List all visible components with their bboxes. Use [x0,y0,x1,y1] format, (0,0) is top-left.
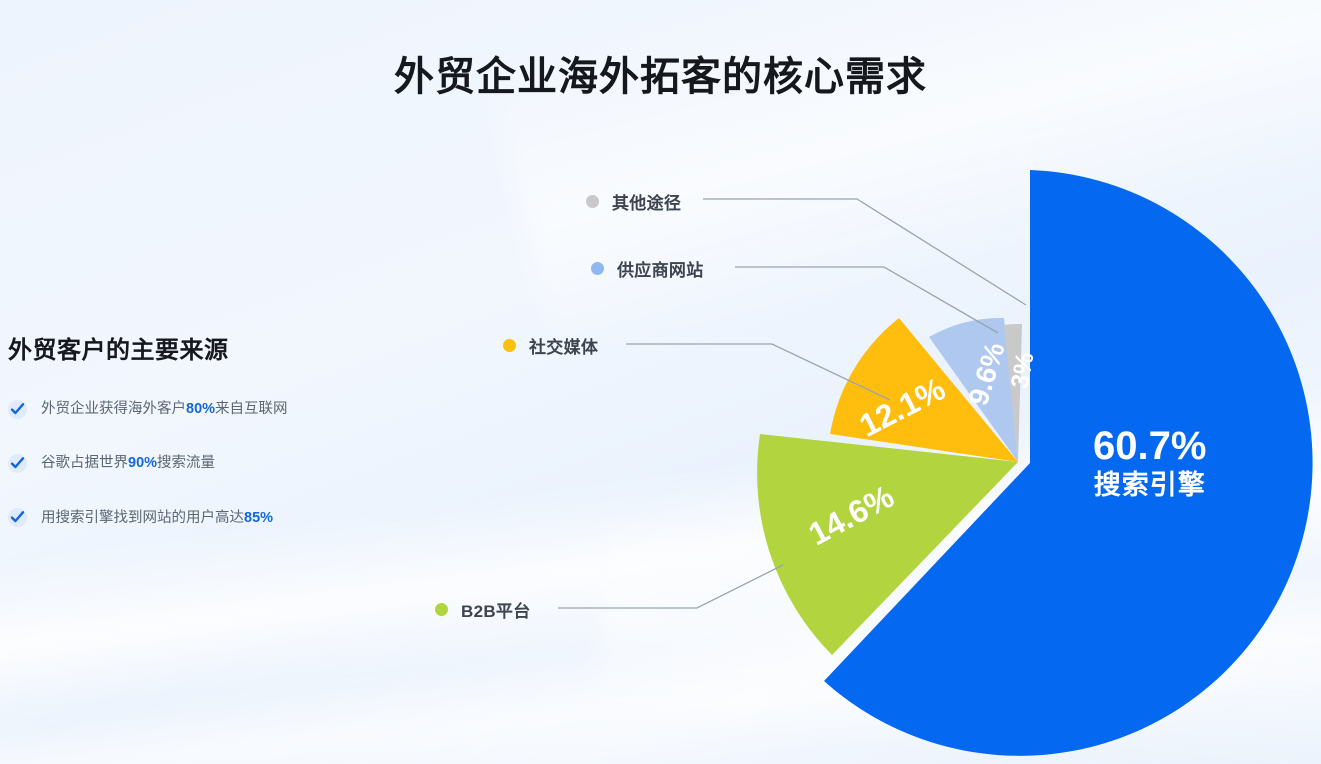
legend-label-other-channels: 其他途径 [612,189,681,214]
bullet-suffix: 搜索流量 [157,455,215,471]
legend-item-b2b[interactable]: B2B平台 [435,597,531,622]
bullet-prefix: 谷歌占据世界 [41,455,128,471]
key-facts-panel: 外贸客户的主要来源 外贸企业获得海外客户80%来自互联网 谷歌占据世界90%搜索… [8,330,428,562]
infographic-canvas: 外贸企业海外拓客的核心需求 60.7% 搜索引擎 14.6% 12.1% 9.6… [0,0,1321,764]
list-item-text: 谷歌占据世界90%搜索流量 [41,453,215,473]
list-item: 谷歌占据世界90%搜索流量 [8,453,428,473]
check-icon [8,508,27,527]
legend-item-other-channels[interactable]: 其他途径 [586,189,681,214]
legend-label-supplier-website: 供应商网站 [617,256,704,281]
list-item-text: 用搜索引擎找到网站的用户高达85% [41,508,273,528]
leader-line-b2b [558,565,783,608]
check-icon [8,400,27,419]
legend-dot-other-channels [586,195,599,208]
legend-label-b2b: B2B平台 [461,597,531,622]
check-icon [8,454,27,473]
bullet-prefix: 用搜索引擎找到网站的用户高达 [41,510,244,526]
list-item-text: 外贸企业获得海外客户80%来自互联网 [41,399,288,419]
legend-label-social-media: 社交媒体 [529,333,598,358]
leader-line-supplier [735,267,998,333]
legend-dot-b2b [435,603,448,616]
legend-dot-social-media [503,339,516,352]
list-item: 外贸企业获得海外客户80%来自互联网 [8,399,428,419]
leader-line-other [703,199,1026,305]
key-facts-heading: 外贸客户的主要来源 [8,330,428,365]
bullet-highlight: 85% [244,510,273,526]
legend-dot-supplier-website [591,262,604,275]
bullet-suffix: 来自互联网 [215,401,288,417]
bullet-prefix: 外贸企业获得海外客户 [41,401,186,417]
legend-item-social-media[interactable]: 社交媒体 [503,333,598,358]
bullet-highlight: 90% [128,455,157,471]
list-item: 用搜索引擎找到网站的用户高达85% [8,508,428,528]
legend-item-supplier-website[interactable]: 供应商网站 [591,256,704,281]
bullet-highlight: 80% [186,401,215,417]
